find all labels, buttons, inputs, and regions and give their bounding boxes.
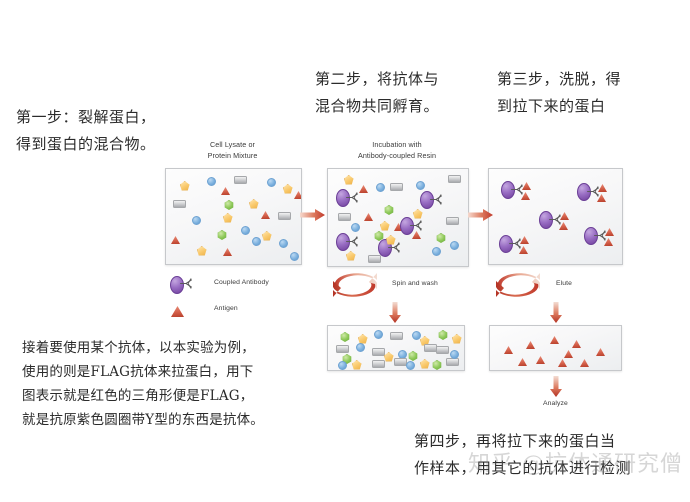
step2-annotation: 第二步，将抗体与 混合物共同孵育。 (315, 66, 439, 120)
step3-annotation: 第三步，洗脱，得 到拉下来的蛋白 (497, 66, 621, 120)
antibody-y-icon (430, 191, 446, 207)
antigen-triangle-red (171, 236, 180, 244)
protein-hexagon-green (408, 351, 418, 361)
protein-circle-blue (207, 177, 216, 186)
antigen-triangle-red (564, 350, 573, 358)
antibody-y-icon (410, 217, 426, 233)
protein-circle-blue (241, 226, 250, 235)
antigen-triangle-red (294, 191, 302, 199)
protein-circle-blue (279, 239, 288, 248)
antigen-triangle-red (596, 348, 605, 356)
legend-label-coupled-antibody: Coupled Antibody (214, 279, 269, 286)
protein-circle-blue (412, 331, 421, 340)
coupled-antibody-complex (336, 233, 366, 251)
flowthrough-panel (327, 325, 465, 371)
protein-pentagon-orange (380, 221, 390, 231)
cell-lysate-panel (165, 168, 302, 265)
protein-hexagon-green (384, 205, 394, 215)
arrow-incubation-to-bound (468, 208, 494, 222)
protein-hexagon-green (224, 200, 234, 210)
protein-circle-blue (374, 330, 383, 339)
antigen-triangle-red (504, 346, 513, 354)
legend: Coupled Antibody Antigen (166, 274, 316, 326)
analyze-label: Analyze (543, 400, 568, 407)
protein-circle-blue (267, 178, 276, 187)
protein-circle-blue (376, 183, 385, 192)
antigen-triangle-red (558, 359, 567, 367)
protein-pentagon-orange (180, 181, 190, 191)
antigen-triangle-red (536, 356, 545, 364)
protein-circle-blue (252, 237, 261, 246)
protein-rect-gray (338, 213, 351, 221)
protein-circle-blue (356, 343, 365, 352)
antibody-y-icon (346, 189, 362, 205)
antigen-triangle-red (171, 306, 184, 317)
protein-pentagon-orange (384, 352, 394, 362)
protein-pentagon-orange (197, 246, 207, 256)
antibody-y-icon (346, 233, 362, 249)
antigen-triangle-red (572, 340, 581, 348)
coupled-antibody-icon (168, 274, 210, 296)
coupled-antibody-complex (577, 183, 607, 201)
step4-annotation: 第四步，再将拉下来的蛋白当 作样本，用其它的抗体进行检测 (414, 428, 631, 482)
legend-label-antigen: Antigen (214, 305, 238, 312)
step1-annotation: 第一步：裂解蛋白， 得到蛋白的混合物。 (16, 104, 156, 158)
antigen-triangle-red (364, 213, 373, 221)
protein-rect-gray (436, 346, 449, 354)
coupled-antibody-complex (499, 235, 529, 253)
protein-rect-gray (368, 255, 381, 263)
protein-rect-gray (173, 200, 186, 208)
protein-pentagon-orange (420, 359, 430, 369)
protein-rect-gray (446, 217, 459, 225)
legend-item-antigen: Antigen (166, 300, 316, 326)
protein-pentagon-orange (452, 334, 462, 344)
incubation-panel-header: Incubation with Antibody-coupled Resin (327, 140, 467, 161)
protein-pentagon-orange (223, 213, 233, 223)
protein-hexagon-green (217, 230, 227, 240)
protein-pentagon-orange (249, 199, 259, 209)
bound-complex-panel (488, 168, 623, 265)
protein-pentagon-orange (352, 360, 362, 370)
antigen-triangle-red (526, 341, 535, 349)
coupled-antibody-complex (539, 211, 569, 229)
protein-circle-blue (290, 252, 299, 261)
coupled-antibody-complex (584, 227, 614, 245)
antigen-triangle-red (223, 248, 232, 256)
elute-arrows (488, 270, 548, 300)
protein-circle-blue (192, 216, 201, 225)
protein-hexagon-green (340, 332, 350, 342)
protein-rect-gray (446, 358, 459, 366)
arrow-down-to-eluate (549, 302, 563, 324)
antibody-y-icon (180, 275, 196, 291)
protein-circle-blue (338, 361, 347, 370)
coupled-antibody-complex (501, 181, 531, 199)
protein-pentagon-orange (344, 175, 354, 185)
protein-pentagon-orange (283, 184, 293, 194)
protein-rect-gray (448, 175, 461, 183)
antigen-triangle-red (261, 211, 270, 219)
coupled-antibody-complex (400, 217, 430, 235)
antigen-triangle-red (518, 358, 527, 366)
protein-rect-gray (372, 348, 385, 356)
protein-hexagon-green (438, 330, 448, 340)
protein-pentagon-orange (262, 231, 272, 241)
legend-item-coupled-antibody: Coupled Antibody (166, 274, 316, 300)
incubation-panel (327, 168, 469, 267)
arrow-down-to-analyze (549, 376, 563, 398)
diagram-canvas: 第一步：裂解蛋白， 得到蛋白的混合物。 第二步，将抗体与 混合物共同孵育。 第三… (0, 0, 690, 502)
explanation-annotation: 接着要使用某个抗体，以本实验为例， 使用的则是FLAG抗体来拉蛋白，用下 图表示… (22, 336, 264, 432)
arrow-down-to-flowthrough (388, 302, 402, 324)
protein-rect-gray (278, 212, 291, 220)
protein-circle-blue (351, 223, 360, 232)
protein-circle-blue (406, 361, 415, 370)
protein-rect-gray (390, 332, 403, 340)
spin-and-wash-label: Spin and wash (392, 280, 438, 287)
protein-circle-blue (416, 181, 425, 190)
protein-hexagon-green (436, 233, 446, 243)
protein-rect-gray (372, 360, 385, 368)
antigen-triangle-red (580, 359, 589, 367)
protein-hexagon-green (432, 360, 442, 370)
antigen-triangle-red (550, 336, 559, 344)
protein-rect-gray (390, 183, 403, 191)
arrow-lysate-to-incubation (300, 208, 326, 222)
protein-circle-blue (450, 350, 459, 359)
spin-and-wash-arrows (325, 270, 385, 300)
protein-circle-blue (432, 247, 441, 256)
eluate-panel (489, 325, 622, 371)
cell-lysate-panel-header: Cell Lysate or Protein Mixture (165, 140, 300, 161)
protein-rect-gray (234, 176, 247, 184)
elute-label: Elute (556, 280, 572, 287)
coupled-antibody-complex (420, 191, 450, 209)
antigen-triangle-red (221, 187, 230, 195)
protein-pentagon-orange (346, 251, 356, 261)
coupled-antibody-complex (336, 189, 366, 207)
protein-pentagon-orange (386, 235, 396, 245)
antigen-icon (168, 300, 210, 322)
protein-circle-blue (450, 241, 459, 250)
protein-rect-gray (336, 345, 349, 353)
